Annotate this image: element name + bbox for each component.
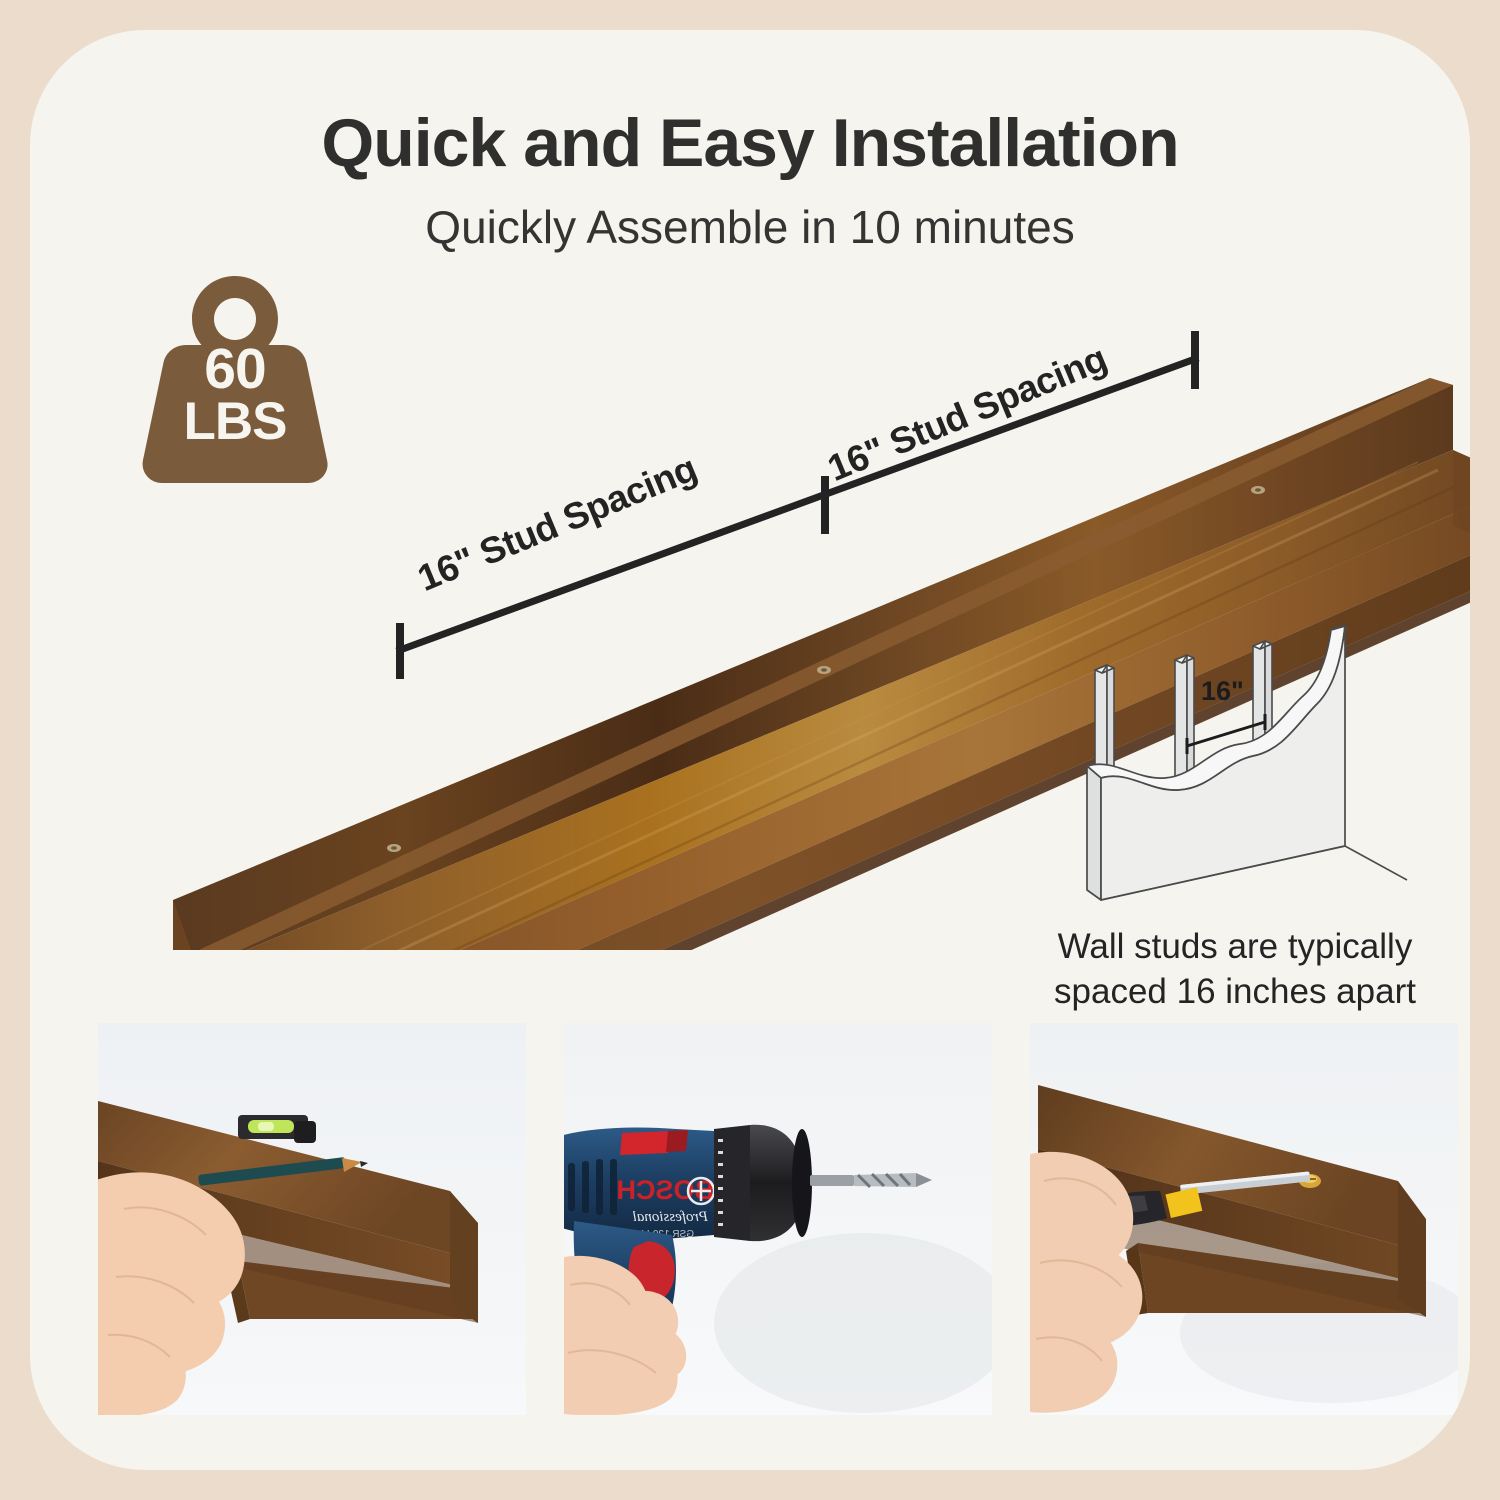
caption-line-2: spaced 16 inches apart <box>1054 972 1416 1011</box>
power-drill-icon: BOSCH Professional GSR 120-LI <box>564 1023 992 1415</box>
drill-brand-sub: Professional <box>633 1209 709 1225</box>
page-subtitle: Quickly Assemble in 10 minutes <box>30 200 1470 254</box>
photo-drive-screw-with-screwdriver <box>1030 1023 1458 1415</box>
pencil-level-icon <box>98 1023 526 1415</box>
installation-photo-strip: BOSCH Professional GSR 120-LI <box>98 1023 1458 1415</box>
photo-mark-with-pencil-and-level <box>98 1023 526 1415</box>
content-card: Quick and Easy Installation Quickly Asse… <box>30 30 1470 1470</box>
stud-measure-label: 16" <box>1201 676 1244 706</box>
wall-stud-diagram: 16" <box>1035 618 1435 918</box>
photo-drill-pilot-hole: BOSCH Professional GSR 120-LI <box>564 1023 992 1415</box>
screwdriver-icon <box>1030 1023 1458 1415</box>
stud-diagram-caption: Wall studs are typically spaced 16 inche… <box>1020 925 1450 1015</box>
infographic-stage: Quick and Easy Installation Quickly Asse… <box>0 0 1500 1500</box>
bubble-level <box>238 1115 316 1143</box>
wall-studs-diagram-icon: 16" <box>1035 618 1435 918</box>
page-title: Quick and Easy Installation <box>30 104 1470 182</box>
caption-line-1: Wall studs are typically <box>1058 927 1413 966</box>
